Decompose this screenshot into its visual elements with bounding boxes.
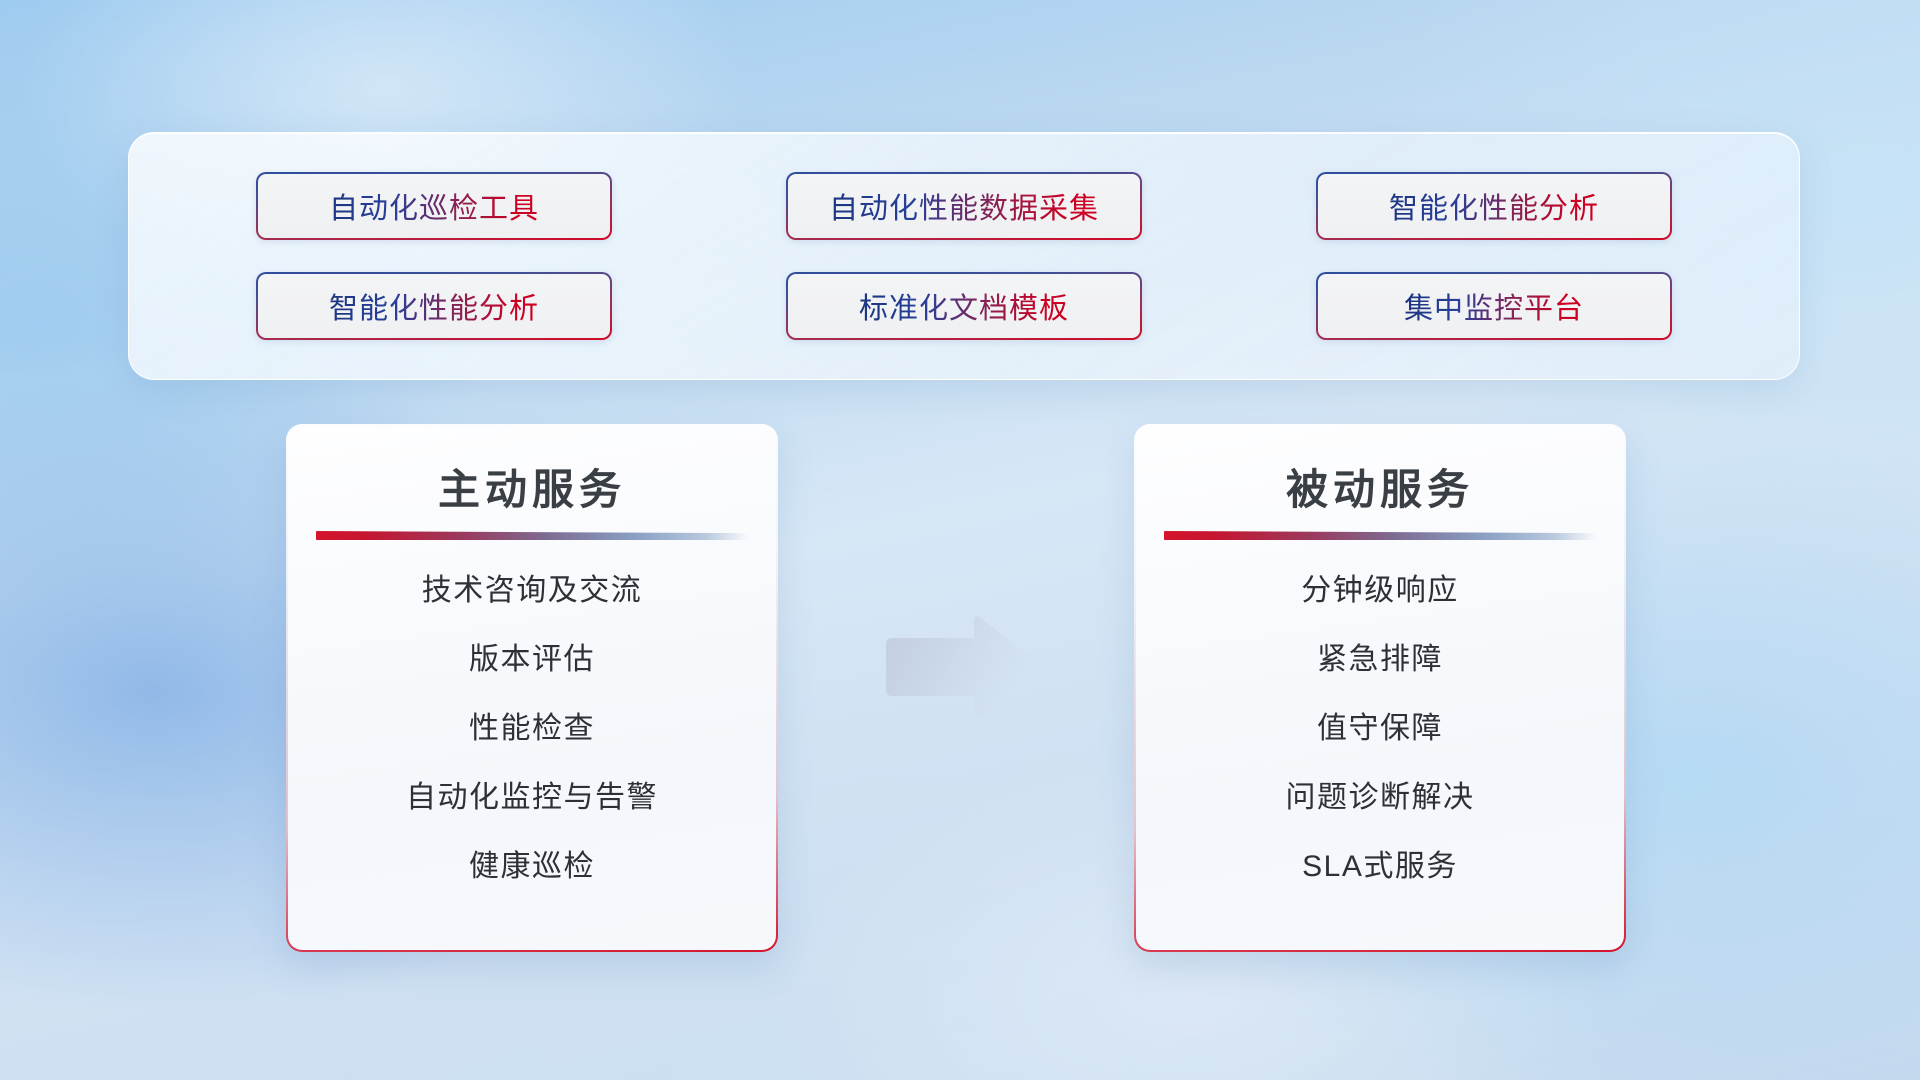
active-service-list: 技术咨询及交流 版本评估 性能检查 自动化监控与告警 健康巡检	[288, 576, 776, 882]
arrow-right-icon	[878, 614, 1042, 720]
list-item: 性能检查	[469, 714, 595, 744]
capability-chip-1[interactable]: 自动化巡检工具	[256, 172, 612, 240]
active-service-card-divider	[316, 531, 748, 540]
capability-chip-6[interactable]: 集中监控平台	[1316, 272, 1672, 340]
active-service-card-title: 主动服务	[438, 456, 626, 517]
list-item: 问题诊断解决	[1286, 783, 1475, 813]
capability-chip-5-body: 标准化文档模板	[788, 274, 1140, 338]
passive-service-card-body: 被动服务 分钟级响应 紧急排障 值守保障 问题诊断解决 SLA式服务	[1136, 426, 1624, 950]
capability-chip-1-body: 自动化巡检工具	[258, 174, 610, 238]
passive-service-list: 分钟级响应 紧急排障 值守保障 问题诊断解决 SLA式服务	[1136, 576, 1624, 882]
list-item: 自动化监控与告警	[406, 783, 658, 813]
capability-chip-3[interactable]: 智能化性能分析	[1316, 172, 1672, 240]
list-item: 值守保障	[1317, 714, 1443, 744]
passive-service-card-divider	[1164, 531, 1596, 540]
active-service-card-body: 主动服务 技术咨询及交流 版本评估 性能检查 自动化监控与告警 健康巡检	[288, 426, 776, 950]
capability-panel: 自动化巡检工具 自动化性能数据采集 智能化性能分析 智能化性能分析 标准化文档模…	[128, 132, 1800, 380]
capability-chip-1-label: 自动化巡检工具	[329, 185, 539, 227]
capability-chip-6-label: 集中监控平台	[1404, 285, 1584, 327]
capability-chip-2-label: 自动化性能数据采集	[829, 185, 1099, 227]
list-item: 技术咨询及交流	[422, 576, 643, 606]
list-item: 分钟级响应	[1301, 576, 1459, 606]
capability-chip-6-body: 集中监控平台	[1318, 274, 1670, 338]
list-item: 版本评估	[469, 645, 595, 675]
capability-chip-3-body: 智能化性能分析	[1318, 174, 1670, 238]
capability-chip-2[interactable]: 自动化性能数据采集	[786, 172, 1142, 240]
passive-service-card[interactable]: 被动服务 分钟级响应 紧急排障 值守保障 问题诊断解决 SLA式服务	[1134, 424, 1626, 952]
passive-service-card-title: 被动服务	[1286, 456, 1474, 517]
capability-chip-5[interactable]: 标准化文档模板	[786, 272, 1142, 340]
capability-chip-4[interactable]: 智能化性能分析	[256, 272, 612, 340]
list-item: 健康巡检	[469, 852, 595, 882]
capability-chip-3-label: 智能化性能分析	[1389, 185, 1599, 227]
capability-chip-4-body: 智能化性能分析	[258, 274, 610, 338]
active-service-card[interactable]: 主动服务 技术咨询及交流 版本评估 性能检查 自动化监控与告警 健康巡检	[286, 424, 778, 952]
list-item: SLA式服务	[1302, 852, 1458, 882]
capability-chip-4-label: 智能化性能分析	[329, 285, 539, 327]
list-item: 紧急排障	[1317, 645, 1443, 675]
capability-chip-5-label: 标准化文档模板	[859, 285, 1069, 327]
capability-chip-2-body: 自动化性能数据采集	[788, 174, 1140, 238]
